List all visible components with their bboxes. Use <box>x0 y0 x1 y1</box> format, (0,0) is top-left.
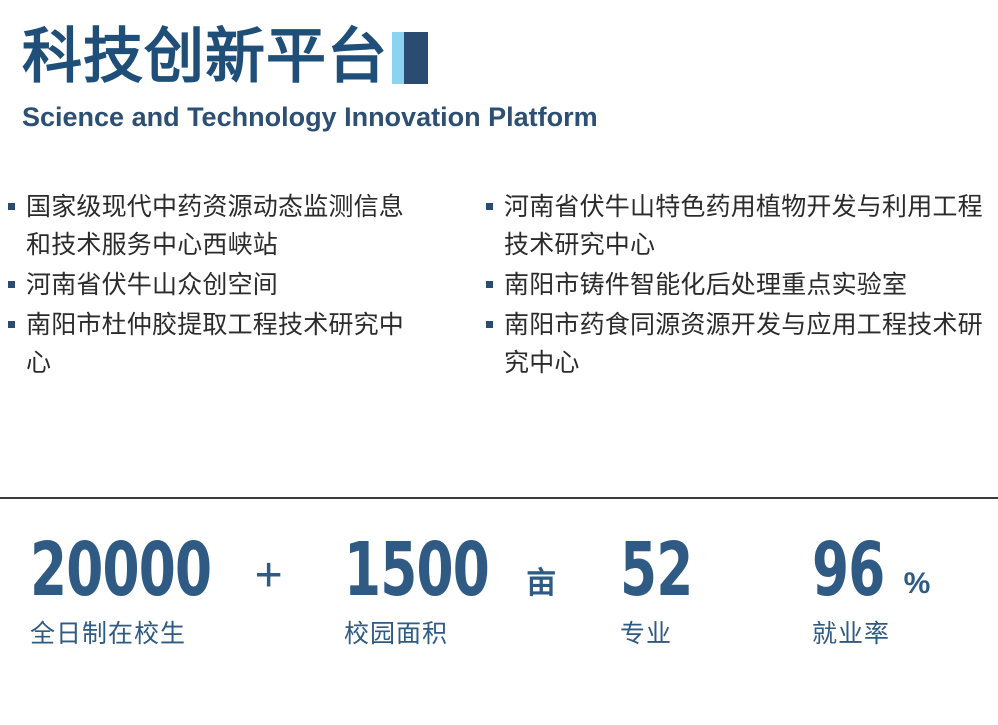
platform-list-left: 国家级现代中药资源动态监测信息和技术服务中心西峡站 河南省伏牛山众创空间 南阳市… <box>8 188 478 382</box>
accent-light-bar <box>392 32 404 84</box>
bullet-square-icon <box>486 321 493 328</box>
list-item: 南阳市药食同源资源开发与应用工程技术研究中心 <box>486 306 998 382</box>
list-item-label: 南阳市药食同源资源开发与应用工程技术研究中心 <box>504 306 998 382</box>
list-item: 河南省伏牛山特色药用植物开发与利用工程技术研究中心 <box>486 188 998 264</box>
stat-block-majors: 52 专业 <box>620 533 712 649</box>
page-title: 科技创新平台 <box>22 26 388 87</box>
list-item-label: 河南省伏牛山众创空间 <box>26 266 278 304</box>
list-item: 南阳市铸件智能化后处理重点实验室 <box>486 266 998 304</box>
platform-list-columns: 国家级现代中药资源动态监测信息和技术服务中心西峡站 河南省伏牛山众创空间 南阳市… <box>0 188 998 384</box>
stat-value: 96 % <box>812 533 930 607</box>
platform-column-left: 国家级现代中药资源动态监测信息和技术服务中心西峡站 河南省伏牛山众创空间 南阳市… <box>0 188 478 384</box>
platform-list-right: 河南省伏牛山特色药用植物开发与利用工程技术研究中心 南阳市铸件智能化后处理重点实… <box>486 188 998 382</box>
statistics-row: 20000 + 全日制在校生 1500 亩 校园面积 52 专业 96 % 就业… <box>0 533 998 673</box>
page-subtitle: Science and Technology Innovation Platfo… <box>22 103 962 133</box>
accent-dark-bar <box>404 32 428 84</box>
stat-number: 52 <box>620 533 693 607</box>
list-item-label: 南阳市杜仲胶提取工程技术研究中心 <box>26 306 426 382</box>
stat-label: 专业 <box>620 619 712 649</box>
title-accent-block-icon <box>392 32 428 84</box>
stat-block-students: 20000 + 全日制在校生 <box>30 533 283 649</box>
section-divider <box>0 497 998 499</box>
stat-number: 1500 <box>344 533 489 607</box>
title-row: 科技创新平台 <box>22 26 962 87</box>
page-header: 科技创新平台 Science and Technology Innovation… <box>22 26 962 133</box>
stat-label: 校园面积 <box>344 619 556 649</box>
bullet-square-icon <box>486 281 493 288</box>
stat-block-campus-area: 1500 亩 校园面积 <box>344 533 556 649</box>
list-item: 国家级现代中药资源动态监测信息和技术服务中心西峡站 <box>8 188 478 264</box>
stat-value: 1500 亩 <box>344 533 556 607</box>
stat-value: 20000 + <box>30 533 283 607</box>
platform-column-right: 河南省伏牛山特色药用植物开发与利用工程技术研究中心 南阳市铸件智能化后处理重点实… <box>478 188 998 384</box>
stat-label: 就业率 <box>812 619 930 649</box>
stat-number: 20000 <box>30 533 211 607</box>
list-item-label: 河南省伏牛山特色药用植物开发与利用工程技术研究中心 <box>504 188 998 264</box>
list-item-label: 国家级现代中药资源动态监测信息和技术服务中心西峡站 <box>26 188 426 264</box>
list-item: 南阳市杜仲胶提取工程技术研究中心 <box>8 306 478 382</box>
list-item-label: 南阳市铸件智能化后处理重点实验室 <box>504 266 907 304</box>
bullet-square-icon <box>8 321 15 328</box>
bullet-square-icon <box>486 203 493 210</box>
stat-value: 52 <box>620 533 712 607</box>
list-item: 河南省伏牛山众创空间 <box>8 266 478 304</box>
stat-label: 全日制在校生 <box>30 619 283 649</box>
bullet-square-icon <box>8 281 15 288</box>
stat-number: 96 <box>812 533 885 607</box>
bullet-square-icon <box>8 203 15 210</box>
stat-suffix: % <box>904 569 931 599</box>
stat-suffix: 亩 <box>526 569 556 599</box>
stat-block-employment-rate: 96 % 就业率 <box>812 533 930 649</box>
stat-suffix: + <box>255 552 283 600</box>
